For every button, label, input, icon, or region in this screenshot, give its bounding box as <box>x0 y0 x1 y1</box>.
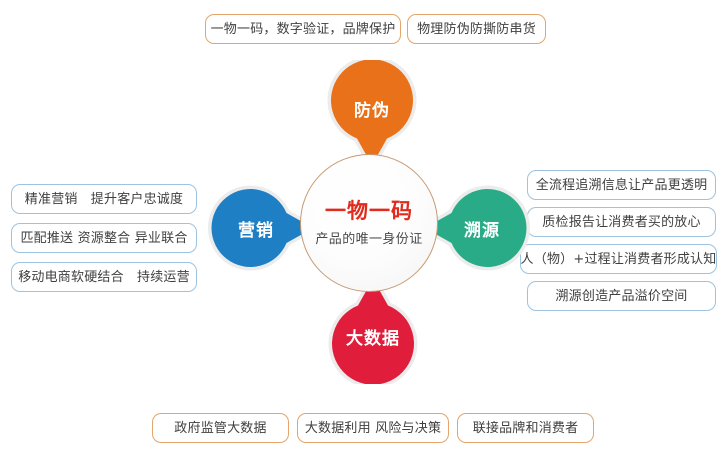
label-traceability-2: 质检报告让消费者买的放心 <box>527 207 716 237</box>
label-marketing-2: 匹配推送 资源整合 异业联合 <box>11 223 197 253</box>
label-big-data-1: 政府监管大数据 <box>152 413 289 443</box>
hub-subtitle: 产品的唯一身份证 <box>315 233 422 246</box>
label-marketing-3: 移动电商软硬结合 持续运营 <box>11 262 197 292</box>
node-marketing[interactable]: 营销 <box>208 182 312 274</box>
node-big-data[interactable]: 大数据 <box>327 280 419 384</box>
node-anti-counterfeit-shape <box>326 60 418 164</box>
radial-infographic: 一物一码，数字验证，品牌保护 物理防伪防撕防串货 精准营销 提升客户忠诚度 匹配… <box>0 0 724 452</box>
label-marketing-1: 精准营销 提升客户忠诚度 <box>11 184 197 214</box>
label-traceability-1: 全流程追溯信息让产品更透明 <box>527 170 716 200</box>
hub-center: 一物一码 产品的唯一身份证 <box>300 154 438 292</box>
label-anti-counterfeit-2: 物理防伪防撕防串货 <box>407 14 546 44</box>
label-traceability-3: 人（物）+过程让消费者形成认知 <box>520 244 717 274</box>
node-big-data-shape <box>327 280 419 384</box>
node-marketing-shape <box>208 182 312 274</box>
label-traceability-4: 溯源创造产品溢价空间 <box>527 281 716 311</box>
node-traceability-shape <box>426 182 530 274</box>
label-big-data-3: 联接品牌和消费者 <box>457 413 594 443</box>
node-anti-counterfeit[interactable]: 防伪 <box>326 60 418 164</box>
label-anti-counterfeit-1: 一物一码，数字验证，品牌保护 <box>205 14 401 44</box>
label-big-data-2: 大数据利用 风险与决策 <box>297 413 449 443</box>
node-traceability[interactable]: 溯源 <box>426 182 530 274</box>
hub-title: 一物一码 <box>325 201 413 222</box>
